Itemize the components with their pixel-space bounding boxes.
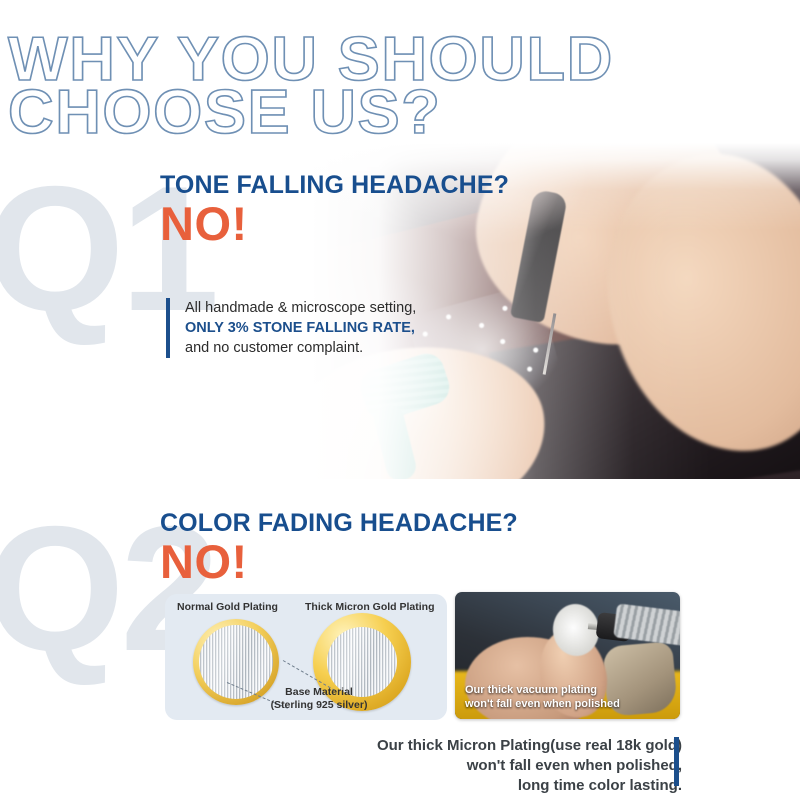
infographic-page: WHY YOU SHOULD CHOOSE US? Q1 Q2 TONE FAL… [0,0,800,800]
photo-polishing: Our thick vacuum plating won't fall even… [455,592,680,719]
label-thick-micron-gold-plating: Thick Micron Gold Plating [305,601,435,613]
q2-answer: NO! [160,538,518,585]
bottom-caption: Our thick Micron Plating(use real 18k go… [322,736,682,795]
q1-question-title: TONE FALLING HEADACHE? [160,172,509,198]
q1-quote-line-1: All handmade & microscope setting, [185,298,416,318]
q1-quote-block: All handmade & microscope setting, ONLY … [166,298,416,358]
photo-q2-caption: Our thick vacuum plating won't fall even… [465,684,620,711]
bottom-caption-accent-bar [674,737,679,786]
plating-comparison-diagram: Normal Gold Plating Thick Micron Gold Pl… [165,594,447,720]
q1-quote-line-2: ONLY 3% STONE FALLING RATE, [185,318,416,338]
label-normal-gold-plating: Normal Gold Plating [177,601,278,613]
q2-question-title: COLOR FADING HEADACHE? [160,510,518,536]
section-q1: TONE FALLING HEADACHE? NO! [160,172,509,247]
q1-quote-line-3: and no customer complaint. [185,338,416,358]
q1-answer: NO! [160,200,509,247]
page-headline: WHY YOU SHOULD CHOOSE US? [8,33,800,140]
section-q2: COLOR FADING HEADACHE? NO! [160,510,518,585]
base-material-caption: Base Material (Sterling 925 silver) [239,686,399,712]
